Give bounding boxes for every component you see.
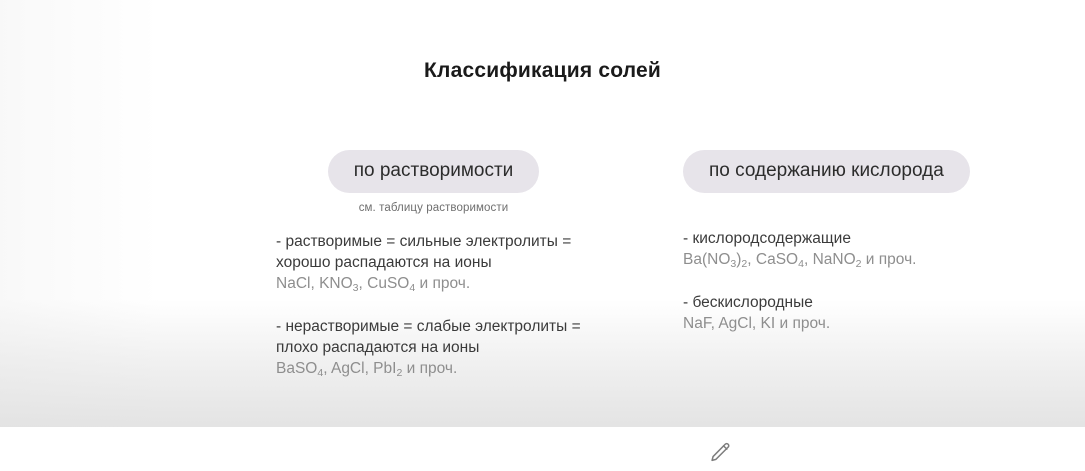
group-soluble: - растворимые = сильные электролиты = хо… (276, 231, 581, 296)
group-oxygen-free: - бескислородные NaF, AgCl, KI и проч. (683, 292, 916, 334)
column-solubility: по растворимости см. таблицу растворимос… (276, 150, 676, 214)
pencil-icon[interactable] (707, 440, 733, 466)
whiteboard-slide: Классификация солей по растворимости см.… (0, 0, 1085, 427)
group-soluble-line-2: хорошо распадаются на ионы (276, 252, 581, 273)
pill-wrapper-oxygen: по содержанию кислорода (683, 150, 1043, 193)
category-pill-oxygen-content[interactable]: по содержанию кислорода (683, 150, 970, 193)
group-insoluble-line-2: плохо распадаются на ионы (276, 337, 581, 358)
group-insoluble-formulas: BaSO4, AgCl, PbI2 и проч. (276, 358, 581, 381)
column-oxygen-content: по содержанию кислорода - кислородсодерж… (683, 150, 1043, 193)
group-soluble-formulas: NaCl, KNO3, CuSO4 и проч. (276, 273, 581, 296)
group-insoluble-line-1: - нерастворимые = слабые электролиты = (276, 316, 581, 337)
group-insoluble: - нерастворимые = слабые электролиты = п… (276, 316, 581, 381)
page-title: Классификация солей (0, 59, 1085, 83)
group-oxygen-free-formulas: NaF, AgCl, KI и проч. (683, 313, 916, 334)
solubility-table-note: см. таблицу растворимости (276, 202, 591, 214)
group-soluble-line-1: - растворимые = сильные электролиты = (276, 231, 581, 252)
oxygen-groups: - кислородсодержащие Ba(NO3)2, CaSO4, Na… (683, 228, 916, 334)
group-oxygen-free-line-1: - бескислородные (683, 292, 916, 313)
pill-wrapper-solubility: по растворимости (276, 150, 591, 193)
group-oxygen-containing-formulas: Ba(NO3)2, CaSO4, NaNO2 и проч. (683, 249, 916, 272)
group-oxygen-containing: - кислородсодержащие Ba(NO3)2, CaSO4, Na… (683, 228, 916, 272)
category-pill-solubility[interactable]: по растворимости (328, 150, 540, 193)
group-oxygen-containing-line-1: - кислородсодержащие (683, 228, 916, 249)
solubility-groups: - растворимые = сильные электролиты = хо… (276, 231, 581, 381)
